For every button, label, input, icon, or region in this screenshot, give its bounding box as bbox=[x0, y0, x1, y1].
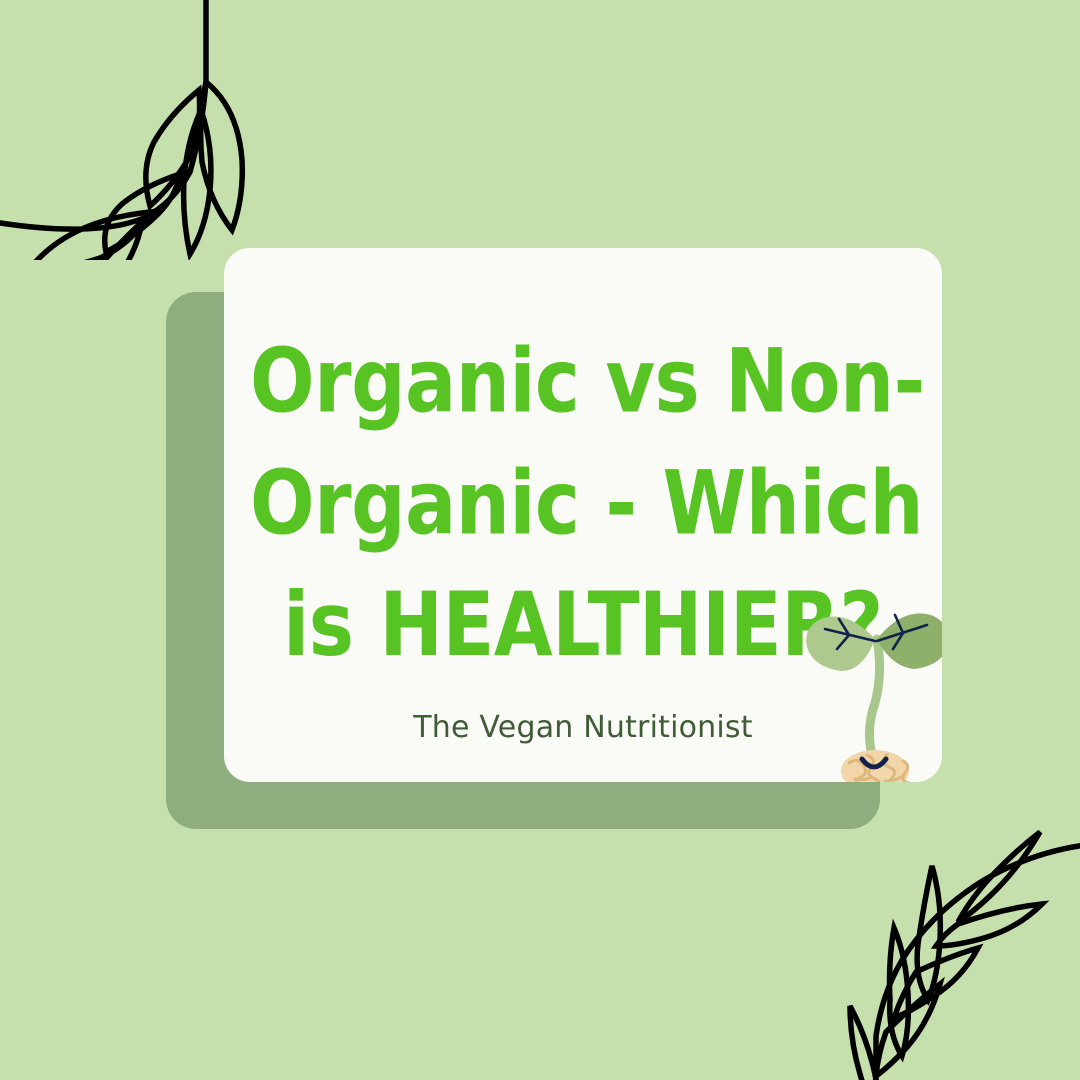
sprout-leaf-right bbox=[877, 613, 942, 669]
leafy-branch-top-left-icon bbox=[0, 0, 294, 260]
sprout-seedling-icon bbox=[799, 603, 942, 782]
poster-canvas: Organic vs Non- Organic - Which is HEALT… bbox=[0, 0, 1080, 1080]
content-card: Organic vs Non- Organic - Which is HEALT… bbox=[224, 248, 942, 782]
title-line-2: Organic - Which bbox=[250, 442, 916, 564]
title-line-1: Organic vs Non- bbox=[250, 320, 916, 442]
leafy-branch-bottom-right-icon bbox=[798, 804, 1080, 1080]
sprout-stem bbox=[869, 639, 879, 759]
